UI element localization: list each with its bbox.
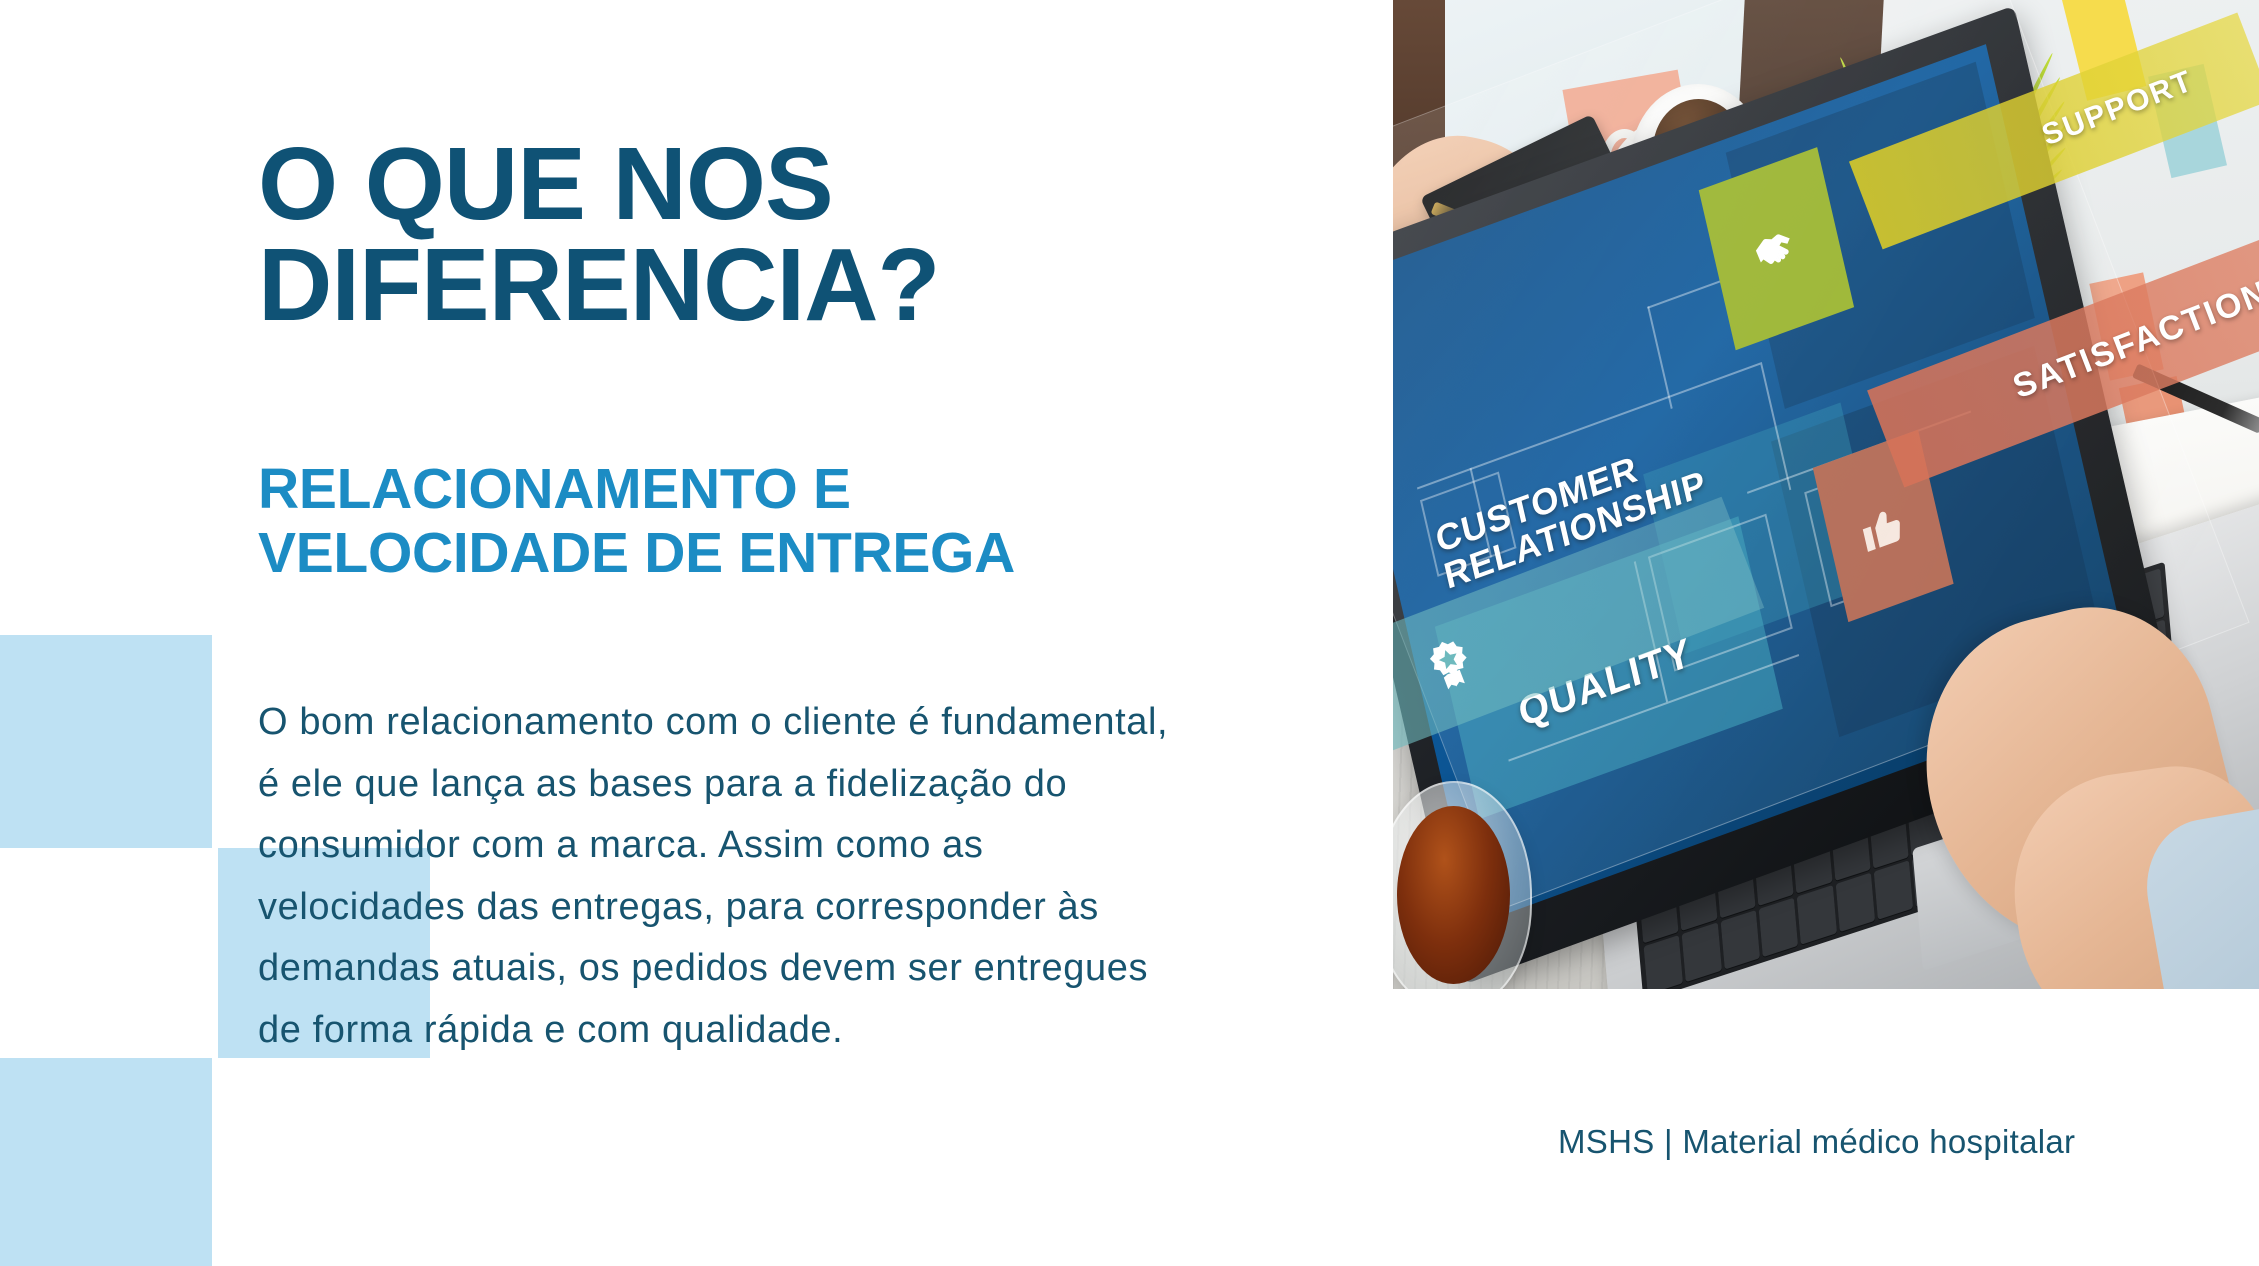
keyboard-key: [1797, 885, 1837, 945]
footer-brand: MSHS | Material médico hospitalar: [1558, 1123, 2075, 1161]
keyboard-key: [1644, 935, 1684, 989]
screen-connector-line: [1647, 306, 1673, 409]
award-badge-icon: [1413, 627, 1488, 702]
keyboard-key: [1759, 897, 1799, 957]
decorative-square-bottom-left: [0, 1058, 212, 1266]
page-subtitle: RELACIONAMENTO E VELOCIDADE DE ENTREGA: [258, 458, 1258, 586]
keyboard-key: [1720, 910, 1760, 970]
keyboard-key: [1835, 872, 1875, 932]
keyboard-key: [1874, 860, 1914, 920]
thumbs-up-icon: [1854, 493, 1912, 559]
keyboard-key: [1682, 922, 1722, 982]
handshake-icon: [1746, 215, 1807, 284]
hero-photo: CUSTOMER RELATIONSHIP QUALITY SATISFACTI…: [1393, 0, 2259, 989]
slide-root: CUSTOMER RELATIONSHIP QUALITY SATISFACTI…: [0, 0, 2259, 1266]
tea-liquid: [1397, 806, 1510, 984]
body-paragraph: O bom relacionamento com o cliente é fun…: [258, 692, 1178, 1061]
decorative-square-top-left: [0, 635, 212, 848]
text-column: O QUE NOS DIFERENCIA? RELACIONAMENTO E V…: [258, 0, 1348, 1266]
page-title: O QUE NOS DIFERENCIA?: [258, 134, 1158, 336]
